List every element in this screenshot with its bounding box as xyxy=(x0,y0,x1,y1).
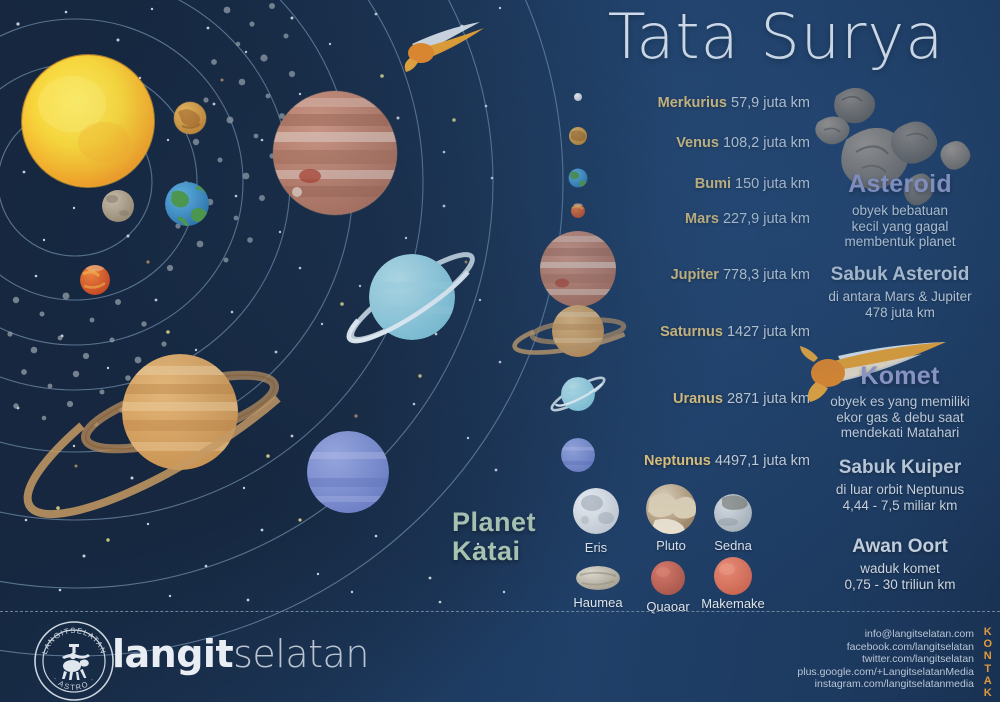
dwarf-pluto-icon xyxy=(646,484,697,538)
dwarf-label-sedna: Sedna xyxy=(688,538,778,553)
brand-bold: langit xyxy=(112,632,233,676)
contact-list: info@langitselatan.com facebook.com/lang… xyxy=(724,628,974,691)
contact-facebook[interactable]: facebook.com/langitselatan xyxy=(724,641,974,654)
langitselatan-logo-icon: LANGITSELATAN · ASTRO · xyxy=(28,616,120,702)
brand-wordmark: langitselatan xyxy=(112,634,369,674)
dwarf-planet-icons xyxy=(0,0,1000,702)
contact-gplus[interactable]: plus.google.com/+LangitselatanMedia xyxy=(724,666,974,679)
contact-twitter[interactable]: twitter.com/langitselatan xyxy=(724,653,974,666)
dwarf-eris-icon xyxy=(573,488,619,534)
dwarf-label-makemake: Makemake xyxy=(688,596,778,611)
brand-light: selatan xyxy=(233,632,369,676)
dwarf-quaoar-icon xyxy=(651,561,685,595)
svg-text:· ASTRO ·: · ASTRO · xyxy=(51,675,97,693)
infographic-canvas: Tata Surya xyxy=(0,0,1000,702)
dwarf-haumea-icon xyxy=(576,566,620,590)
contact-instagram[interactable]: instagram.com/langitselatanmedia xyxy=(724,678,974,691)
footer: LANGITSELATAN · ASTRO · langitselatan in… xyxy=(0,612,1000,702)
dwarf-makemake-icon xyxy=(714,557,752,595)
dwarf-sedna-icon xyxy=(714,494,752,532)
contact-email[interactable]: info@langitselatan.com xyxy=(724,628,974,641)
kontak-vertical-label: KONTAK xyxy=(980,626,996,699)
